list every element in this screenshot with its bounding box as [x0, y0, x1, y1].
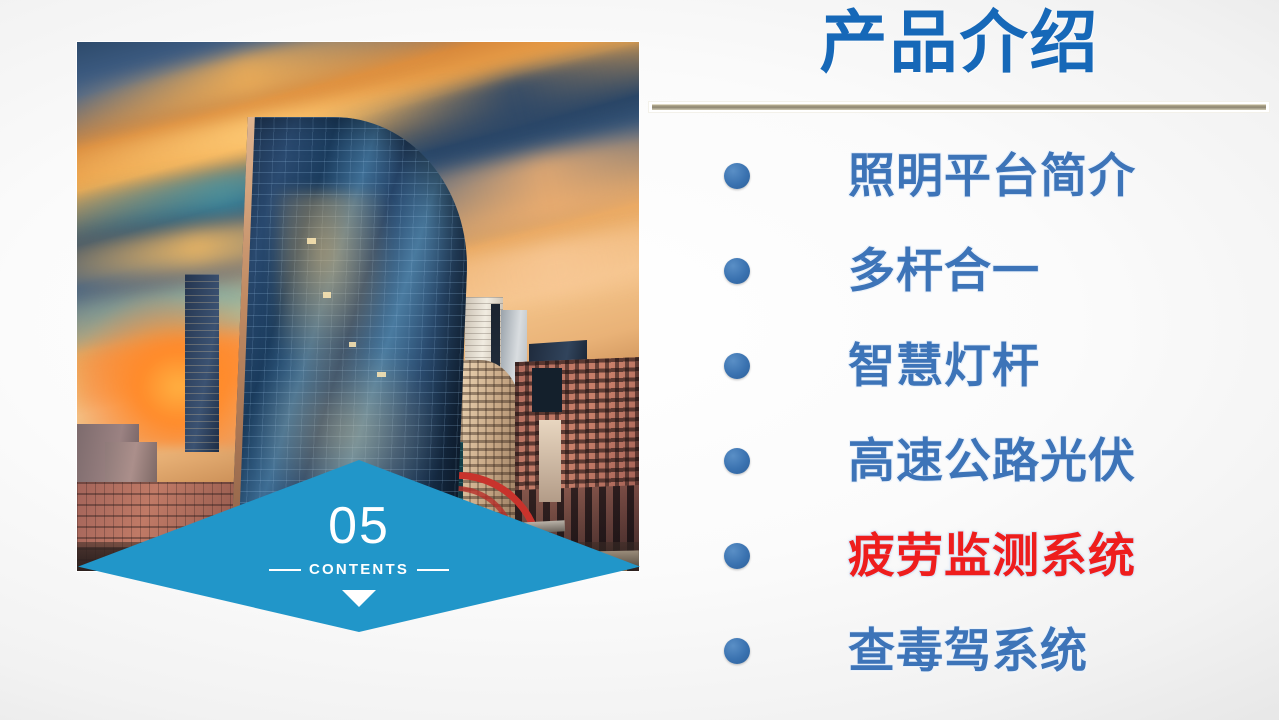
lit-window	[349, 342, 356, 347]
lit-window	[377, 372, 386, 377]
building-notch	[532, 368, 562, 412]
page-title: 产品介绍	[646, 6, 1273, 81]
building-light-slit	[539, 420, 561, 502]
list-item[interactable]: 高速公路光伏	[646, 413, 1279, 508]
bullet-dot-icon	[724, 258, 750, 284]
list-item-label: 疲劳监测系统	[848, 532, 1136, 579]
list-item[interactable]: 查毒驾系统	[646, 603, 1279, 698]
list-item[interactable]: 照明平台简介	[646, 128, 1279, 223]
bullet-dot-icon	[724, 353, 750, 379]
list-item-highlighted[interactable]: 疲劳监测系统	[646, 508, 1279, 603]
bullet-dot-icon	[724, 448, 750, 474]
bullet-dot-icon	[724, 543, 750, 569]
list-item-label: 高速公路光伏	[848, 437, 1136, 484]
list-item-label: 查毒驾系统	[848, 627, 1088, 674]
list-item-label: 多杆合一	[848, 247, 1040, 294]
lit-window	[323, 292, 331, 298]
bullet-dot-icon	[724, 163, 750, 189]
dark-tower	[185, 274, 219, 452]
bullet-dot-icon	[724, 638, 750, 664]
lit-window	[307, 238, 316, 244]
list-item-label: 智慧灯杆	[848, 342, 1040, 389]
list-item[interactable]: 智慧灯杆	[646, 318, 1279, 413]
presentation-slide: 05 CONTENTS 产品介绍 照明平台简介 多杆合一 智慧灯杆 高速公路光伏	[0, 0, 1279, 720]
title-divider-bar	[652, 104, 1266, 110]
agenda-list: 照明平台简介 多杆合一 智慧灯杆 高速公路光伏 疲劳监测系统 查毒驾系统	[646, 128, 1279, 698]
list-item[interactable]: 多杆合一	[646, 223, 1279, 318]
list-item-label: 照明平台简介	[848, 152, 1136, 199]
title-divider	[648, 101, 1270, 113]
